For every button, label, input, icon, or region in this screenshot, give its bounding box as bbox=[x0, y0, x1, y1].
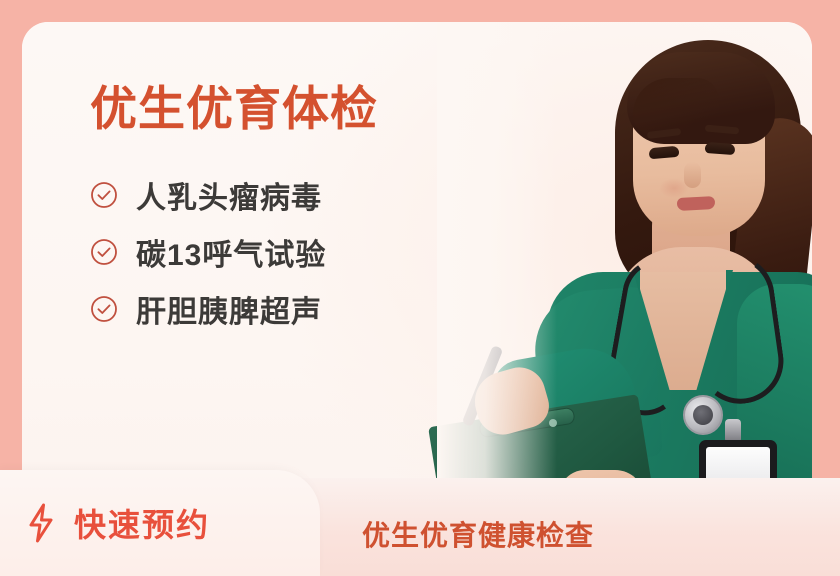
feature-item-3: 肝胆胰脾超声 bbox=[90, 281, 470, 338]
check-circle-icon bbox=[90, 238, 118, 266]
promo-banner: 优生优育体检 人乳头瘤病毒 bbox=[0, 0, 840, 576]
eye-right bbox=[705, 142, 736, 155]
feature-list: 人乳头瘤病毒 碳13呼气试验 bbox=[90, 167, 470, 338]
quick-booking-label: 快速预约 bbox=[74, 500, 210, 546]
feature-label-3: 肝胆胰脾超声 bbox=[136, 287, 322, 331]
quick-booking-button[interactable]: 快速预约 bbox=[0, 470, 320, 576]
lightning-bolt-icon bbox=[24, 503, 58, 543]
feature-label-1: 人乳头瘤病毒 bbox=[136, 173, 322, 217]
check-circle-icon bbox=[90, 181, 118, 209]
stethoscope-chestpiece-inner bbox=[693, 405, 713, 425]
feature-item-2: 碳13呼气试验 bbox=[90, 224, 470, 281]
feature-label-2: 碳13呼气试验 bbox=[136, 230, 326, 274]
mouth bbox=[677, 196, 716, 211]
cheek bbox=[659, 178, 689, 198]
feature-item-1: 人乳头瘤病毒 bbox=[90, 167, 470, 224]
bottom-caption: 优生优育健康检查 bbox=[362, 514, 594, 554]
page-title: 优生优育体检 bbox=[90, 84, 470, 135]
check-circle-icon bbox=[90, 295, 118, 323]
text-block: 优生优育体检 人乳头瘤病毒 bbox=[90, 84, 470, 338]
